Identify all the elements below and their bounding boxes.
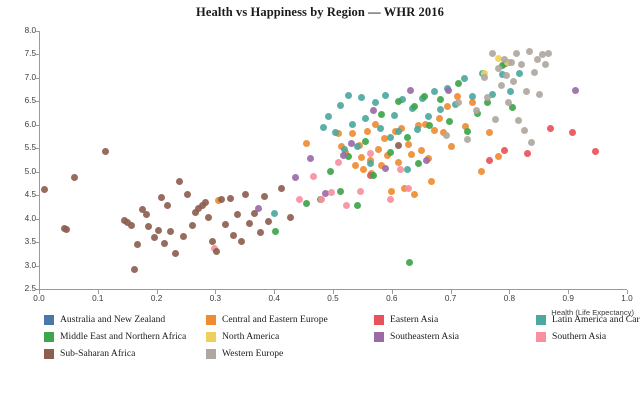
scatter-point — [382, 165, 389, 172]
chart-title: Health vs Happiness by Region — WHR 2016 — [0, 5, 640, 20]
x-tick-mark — [98, 290, 99, 294]
scatter-point — [367, 150, 374, 157]
scatter-point — [41, 186, 48, 193]
scatter-point — [395, 159, 402, 166]
y-tick-label: 3.5 — [0, 238, 36, 246]
legend-item[interactable]: Australia and New Zealand — [44, 315, 204, 325]
scatter-point — [63, 226, 70, 233]
scatter-point — [405, 185, 412, 192]
scatter-point — [145, 223, 152, 230]
scatter-point — [526, 48, 533, 55]
scatter-point — [404, 134, 411, 141]
scatter-point — [444, 103, 451, 110]
scatter-point — [367, 160, 374, 167]
scatter-point — [337, 188, 344, 195]
scatter-point — [448, 143, 455, 150]
x-tick-label: 0.9 — [548, 295, 588, 303]
scatter-point — [327, 168, 334, 175]
chart-legend: Australia and New ZealandCentral and Eas… — [44, 315, 640, 375]
legend-swatch-icon — [206, 315, 216, 325]
scatter-point — [510, 78, 517, 85]
scatter-point — [292, 174, 299, 181]
y-tick-label: 4.0 — [0, 215, 36, 223]
scatter-point — [362, 115, 369, 122]
scatter-point — [523, 88, 530, 95]
legend-swatch-icon — [536, 332, 546, 342]
y-tick-label: 8.0 — [0, 27, 36, 35]
x-tick-label: 0.0 — [19, 295, 59, 303]
scatter-point — [202, 199, 209, 206]
legend-label: Southeastern Asia — [390, 332, 459, 342]
scatter-point — [391, 112, 398, 119]
scatter-point — [382, 92, 389, 99]
x-tick-mark — [568, 290, 569, 294]
scatter-point — [405, 141, 412, 148]
scatter-point — [296, 196, 303, 203]
scatter-point — [213, 248, 220, 255]
legend-label: Southern Asia — [552, 332, 606, 342]
scatter-point — [167, 228, 174, 235]
legend-swatch-icon — [206, 332, 216, 342]
scatter-point — [524, 150, 531, 157]
scatter-point — [387, 149, 394, 156]
legend-label: Latin America and Caribb — [552, 315, 640, 325]
scatter-point — [340, 152, 347, 159]
scatter-point — [176, 178, 183, 185]
scatter-point — [428, 178, 435, 185]
scatter-point — [445, 87, 452, 94]
scatter-point — [507, 88, 514, 95]
x-tick-mark — [157, 290, 158, 294]
y-tick-label: 5.0 — [0, 168, 36, 176]
scatter-point — [362, 138, 369, 145]
scatter-point — [352, 162, 359, 169]
scatter-point — [418, 147, 425, 154]
scatter-point — [318, 196, 325, 203]
scatter-point — [303, 200, 310, 207]
scatter-point — [128, 222, 135, 229]
legend-item[interactable]: Eastern Asia — [374, 315, 534, 325]
scatter-point — [335, 159, 342, 166]
scatter-point — [184, 191, 191, 198]
scatter-point — [395, 128, 402, 135]
scatter-point — [503, 72, 510, 79]
x-tick-mark — [39, 290, 40, 294]
scatter-point — [238, 238, 245, 245]
scatter-point — [155, 227, 162, 234]
scatter-point — [492, 116, 499, 123]
scatter-point — [345, 92, 352, 99]
scatter-point — [592, 148, 599, 155]
scatter-point — [377, 125, 384, 132]
scatter-point — [495, 65, 502, 72]
scatter-point — [272, 228, 279, 235]
scatter-point — [407, 87, 414, 94]
scatter-point — [387, 196, 394, 203]
scatter-point — [501, 56, 508, 63]
legend-item[interactable]: North America — [206, 332, 372, 342]
y-tick-label: 5.5 — [0, 144, 36, 152]
scatter-point — [251, 210, 258, 217]
scatter-point — [230, 232, 237, 239]
scatter-points-layer — [39, 31, 627, 289]
scatter-point — [364, 128, 371, 135]
legend-label: Middle East and Northern Africa — [60, 332, 186, 342]
scatter-point — [360, 166, 367, 173]
x-tick-mark — [274, 290, 275, 294]
scatter-point — [431, 88, 438, 95]
scatter-point — [265, 218, 272, 225]
scatter-point — [222, 221, 229, 228]
scatter-point — [71, 174, 78, 181]
scatter-point — [395, 142, 402, 149]
scatter-point — [358, 154, 365, 161]
x-tick-label: 0.7 — [431, 295, 471, 303]
scatter-point — [464, 128, 471, 135]
scatter-point — [481, 74, 488, 81]
legend-item[interactable]: Western Europe — [206, 349, 372, 359]
scatter-point — [189, 222, 196, 229]
y-tick-label: 7.5 — [0, 50, 36, 58]
scatter-point — [303, 140, 310, 147]
legend-item[interactable]: Central and Eastern Europe — [206, 315, 372, 325]
scatter-point — [516, 70, 523, 77]
scatter-point — [469, 93, 476, 100]
scatter-point — [408, 151, 415, 158]
scatter-point — [378, 111, 385, 118]
scatter-point — [209, 238, 216, 245]
scatter-point — [446, 118, 453, 125]
scatter-point — [464, 136, 471, 143]
scatter-point — [349, 130, 356, 137]
x-tick-label: 1.0 — [607, 295, 640, 303]
scatter-point — [278, 185, 285, 192]
x-tick-mark — [451, 290, 452, 294]
scatter-point — [478, 168, 485, 175]
scatter-point — [310, 173, 317, 180]
legend-item[interactable]: Middle East and Northern Africa — [44, 332, 204, 342]
x-tick-label: 0.4 — [254, 295, 294, 303]
plot-area — [39, 31, 627, 289]
x-tick-label: 0.6 — [372, 295, 412, 303]
scatter-point — [425, 113, 432, 120]
x-tick-mark — [392, 290, 393, 294]
scatter-point — [271, 210, 278, 217]
legend-swatch-icon — [44, 315, 54, 325]
scatter-point — [437, 96, 444, 103]
scatter-point — [443, 132, 450, 139]
scatter-point — [218, 196, 225, 203]
scatter-point — [515, 117, 522, 124]
legend-item[interactable]: Sub-Saharan Africa — [44, 349, 204, 359]
scatter-point — [375, 146, 382, 153]
scatter-point — [501, 147, 508, 154]
scatter-point — [320, 124, 327, 131]
legend-item[interactable]: Southern Asia — [536, 332, 640, 342]
scatter-point — [287, 214, 294, 221]
legend-label: Eastern Asia — [390, 315, 438, 325]
scatter-point — [161, 240, 168, 247]
scatter-point — [486, 157, 493, 164]
scatter-point — [498, 82, 505, 89]
scatter-point — [521, 127, 528, 134]
scatter-point — [542, 61, 549, 68]
scatter-point — [421, 93, 428, 100]
scatter-point — [242, 191, 249, 198]
scatter-point — [354, 202, 361, 209]
scatter-point — [395, 98, 402, 105]
x-tick-label: 0.1 — [78, 295, 118, 303]
legend-item[interactable]: Latin America and Caribb — [536, 315, 640, 325]
scatter-point — [486, 129, 493, 136]
x-tick-label: 0.5 — [313, 295, 353, 303]
legend-swatch-icon — [374, 332, 384, 342]
legend-swatch-icon — [206, 349, 216, 359]
scatter-point — [423, 157, 430, 164]
scatter-point — [404, 166, 411, 173]
scatter-point — [358, 94, 365, 101]
scatter-point — [151, 234, 158, 241]
scatter-point — [337, 102, 344, 109]
scatter-point — [545, 50, 552, 57]
scatter-point — [357, 188, 364, 195]
legend-swatch-icon — [44, 332, 54, 342]
scatter-point — [370, 107, 377, 114]
x-tick-label: 0.8 — [489, 295, 529, 303]
scatter-point — [143, 211, 150, 218]
scatter-point — [397, 166, 404, 173]
legend-swatch-icon — [374, 315, 384, 325]
y-tick-label: 2.5 — [0, 285, 36, 293]
scatter-point — [414, 126, 421, 133]
scatter-point — [489, 50, 496, 57]
x-tick-mark — [215, 290, 216, 294]
scatter-point — [536, 91, 543, 98]
scatter-point — [518, 61, 525, 68]
y-tick-label: 4.5 — [0, 191, 36, 199]
scatter-point — [508, 59, 515, 66]
y-tick-label: 6.0 — [0, 121, 36, 129]
legend-swatch-icon — [44, 349, 54, 359]
scatter-point — [528, 139, 535, 146]
scatter-point — [437, 106, 444, 113]
scatter-point — [134, 241, 141, 248]
scatter-point — [227, 195, 234, 202]
scatter-point — [495, 153, 502, 160]
x-tick-mark — [333, 290, 334, 294]
scatter-point — [411, 191, 418, 198]
scatter-point — [131, 266, 138, 273]
scatter-point — [436, 115, 443, 122]
scatter-point — [388, 188, 395, 195]
scatter-point — [411, 103, 418, 110]
scatter-point — [455, 99, 462, 106]
scatter-point — [387, 134, 394, 141]
scatter-point — [372, 99, 379, 106]
scatter-point — [164, 202, 171, 209]
scatter-point — [547, 125, 554, 132]
scatter-point — [455, 80, 462, 87]
chart-figure: Health vs Happiness by Region — WHR 2016… — [0, 0, 640, 400]
scatter-point — [348, 140, 355, 147]
scatter-point — [406, 259, 413, 266]
y-tick-label: 6.5 — [0, 97, 36, 105]
y-tick-label: 3.0 — [0, 262, 36, 270]
scatter-point — [569, 129, 576, 136]
legend-label: Sub-Saharan Africa — [60, 349, 135, 359]
scatter-point — [343, 202, 350, 209]
scatter-point — [325, 113, 332, 120]
scatter-point — [415, 160, 422, 167]
scatter-point — [349, 121, 356, 128]
scatter-point — [572, 87, 579, 94]
scatter-point — [158, 194, 165, 201]
scatter-point — [307, 155, 314, 162]
scatter-point — [261, 193, 268, 200]
legend-swatch-icon — [536, 315, 546, 325]
scatter-point — [513, 50, 520, 57]
x-tick-label: 0.2 — [137, 295, 177, 303]
legend-item[interactable]: Southeastern Asia — [374, 332, 534, 342]
scatter-point — [461, 75, 468, 82]
scatter-point — [531, 69, 538, 76]
x-tick-label: 0.3 — [195, 295, 235, 303]
scatter-point — [205, 214, 212, 221]
x-tick-mark — [509, 290, 510, 294]
scatter-point — [246, 220, 253, 227]
scatter-point — [257, 229, 264, 236]
legend-label: Central and Eastern Europe — [222, 315, 328, 325]
legend-label: Western Europe — [222, 349, 283, 359]
scatter-point — [172, 250, 179, 257]
scatter-point — [370, 172, 377, 179]
y-tick-label: 7.0 — [0, 74, 36, 82]
legend-label: North America — [222, 332, 279, 342]
scatter-point — [328, 189, 335, 196]
scatter-point — [234, 211, 241, 218]
scatter-point — [180, 233, 187, 240]
x-tick-mark — [627, 290, 628, 294]
legend-label: Australia and New Zealand — [60, 315, 165, 325]
scatter-point — [102, 148, 109, 155]
